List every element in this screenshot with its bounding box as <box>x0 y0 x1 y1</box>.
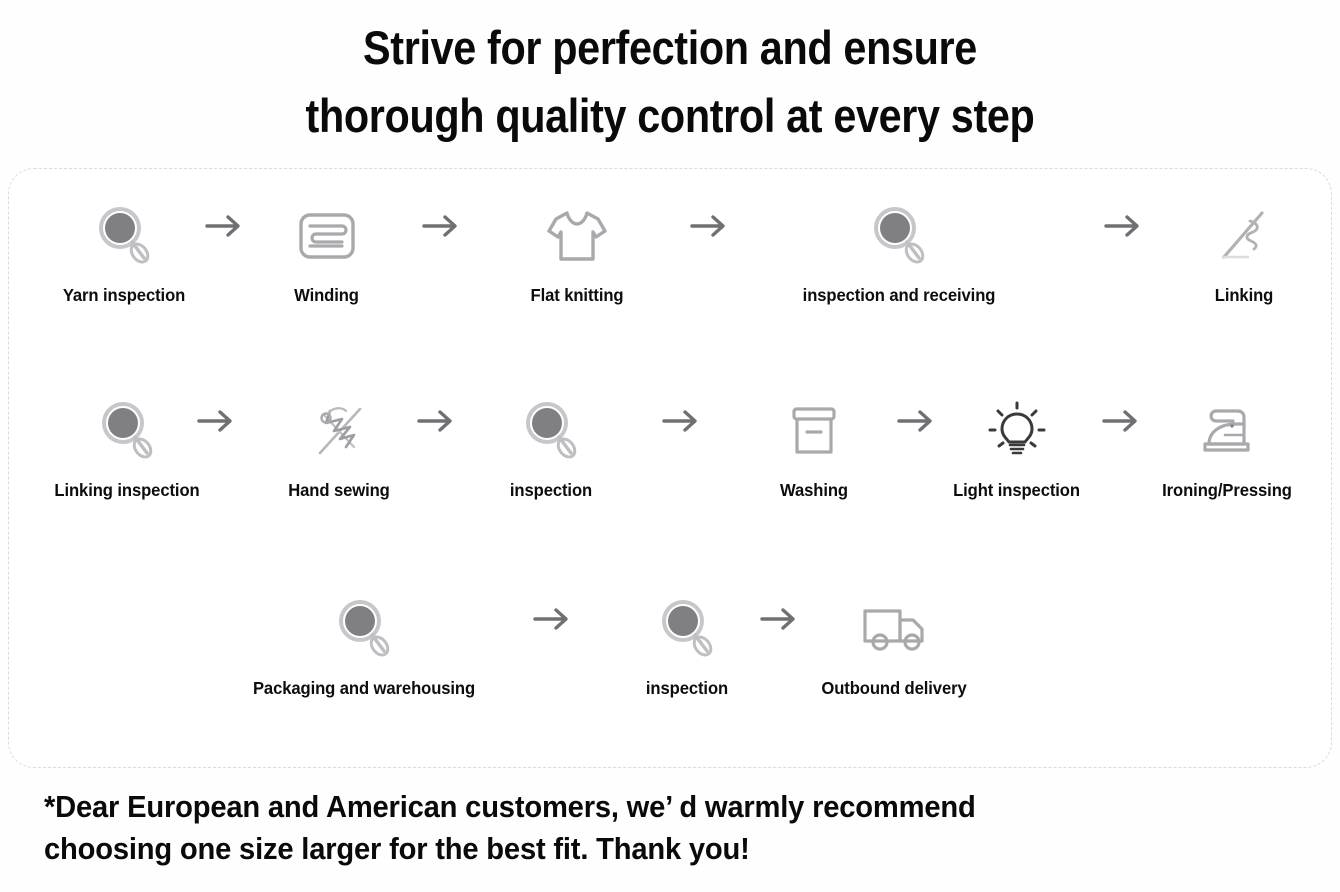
page-title-line-2: thorough quality control at every step <box>80 82 1259 150</box>
step-label: Light inspection <box>929 480 1105 501</box>
arrow-icon <box>419 203 465 249</box>
arrow-icon <box>530 596 576 642</box>
step-hand-sewing[interactable]: Hand sewing <box>249 394 429 501</box>
step-label: Packaging and warehousing <box>217 678 512 699</box>
arrow-icon <box>194 398 240 444</box>
arrow-icon <box>659 398 705 444</box>
sizing-advice-line-1: *Dear European and American customers, w… <box>44 786 1228 828</box>
process-row-1: Yarn inspection Winding <box>9 189 1333 339</box>
step-light-inspection[interactable]: Light inspection <box>924 394 1109 501</box>
page-title-line-1: Strive for perfection and ensure <box>80 14 1259 82</box>
step-winding[interactable]: Winding <box>249 199 404 306</box>
needle-thread-icon <box>1169 199 1319 273</box>
step-label: Outbound delivery <box>794 678 994 699</box>
step-inspection-and-receiving[interactable]: inspection and receiving <box>764 199 1034 306</box>
iron-icon <box>1127 394 1327 468</box>
winding-spool-icon <box>249 199 404 273</box>
magnifier-icon <box>481 394 621 468</box>
step-washing[interactable]: Washing <box>744 394 884 501</box>
step-inspection-row3[interactable]: inspection <box>617 592 757 699</box>
magnifier-icon <box>209 592 519 666</box>
arrow-icon <box>687 203 733 249</box>
arrow-icon <box>202 203 248 249</box>
step-label: Flat knitting <box>501 285 653 306</box>
arrow-icon <box>1101 203 1147 249</box>
page-title: Strive for perfection and ensure thoroug… <box>80 14 1259 150</box>
sizing-advice-note: *Dear European and American customers, w… <box>44 786 1228 870</box>
step-label: Linking inspection <box>32 480 222 501</box>
step-inspection-row2[interactable]: inspection <box>481 394 621 501</box>
process-row-3: Packaging and warehousing inspection <box>9 589 1333 739</box>
step-packaging-and-warehousing[interactable]: Packaging and warehousing <box>209 592 519 699</box>
step-yarn-inspection[interactable]: Yarn inspection <box>39 199 209 306</box>
arrow-icon <box>414 398 460 444</box>
step-label: Winding <box>253 285 400 306</box>
process-row-2: Linking inspection Hand sewi <box>9 389 1333 539</box>
delivery-truck-icon <box>789 592 999 666</box>
lightbulb-icon <box>924 394 1109 468</box>
step-label: Yarn inspection <box>43 285 205 306</box>
step-label: inspection <box>485 480 618 501</box>
quality-control-infographic: Strive for perfection and ensure thoroug… <box>0 0 1340 892</box>
tshirt-icon <box>497 199 657 273</box>
washing-box-icon <box>744 394 884 468</box>
step-flat-knitting[interactable]: Flat knitting <box>497 199 657 306</box>
hand-sewing-needle-icon <box>249 394 429 468</box>
step-label: Ironing/Pressing <box>1132 480 1322 501</box>
step-outbound-delivery[interactable]: Outbound delivery <box>789 592 999 699</box>
magnifier-icon <box>764 199 1034 273</box>
sizing-advice-line-2: choosing one size larger for the best fi… <box>44 828 1228 870</box>
step-ironing-pressing[interactable]: Ironing/Pressing <box>1127 394 1327 501</box>
magnifier-icon <box>617 592 757 666</box>
magnifier-icon <box>39 199 209 273</box>
step-linking[interactable]: Linking <box>1169 199 1319 306</box>
process-flow-panel: Yarn inspection Winding <box>8 168 1332 768</box>
step-label: Linking <box>1173 285 1316 306</box>
step-label: inspection and receiving <box>771 285 1028 306</box>
step-label: inspection <box>621 678 754 699</box>
step-label: Washing <box>748 480 881 501</box>
step-label: Hand sewing <box>254 480 425 501</box>
